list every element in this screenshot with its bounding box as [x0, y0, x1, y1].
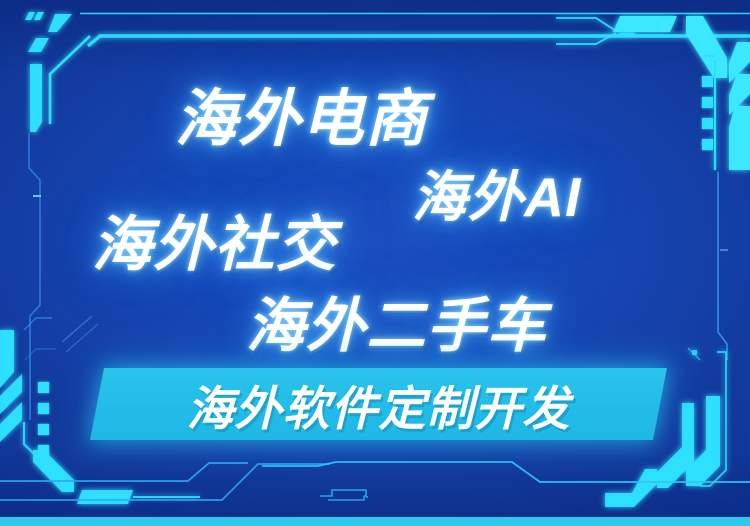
- ribbon-banner: 海外软件定制开发: [97, 368, 660, 440]
- headline-used-car: 海外二手车: [246, 278, 547, 363]
- headline-ecommerce: 海外电商: [175, 68, 428, 158]
- tech-poster: 海外电商 海外AI 海外社交 海外二手车 海外软件定制开发: [0, 0, 750, 526]
- ribbon-label: 海外软件定制开发: [97, 368, 660, 440]
- headline-ai: 海外AI: [412, 152, 581, 232]
- headline-social: 海外社交: [92, 196, 337, 283]
